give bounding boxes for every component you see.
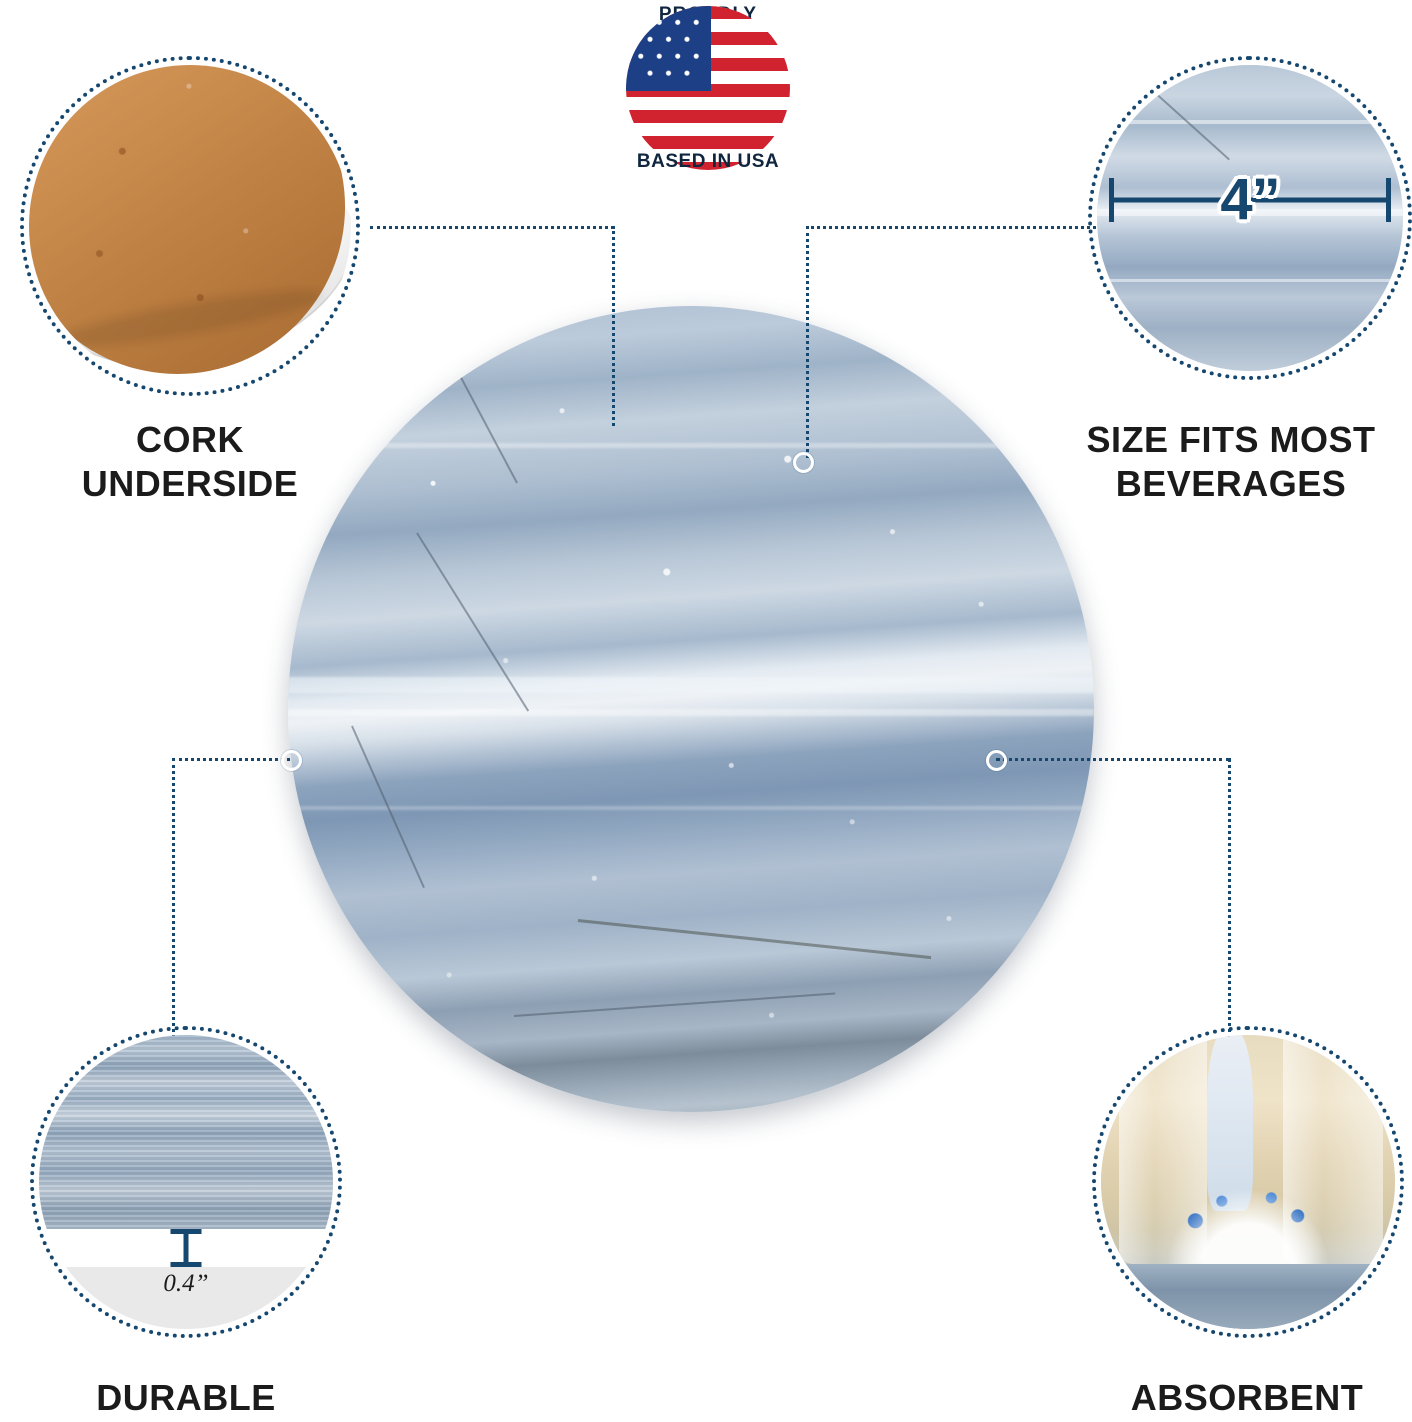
product-image-coaster [288, 306, 1094, 1112]
coaster-surface-art: 4” [1097, 65, 1403, 371]
marble-streak [288, 709, 1094, 716]
marble-crack [578, 919, 931, 959]
connector-line-cork-horizontal [370, 226, 614, 229]
measurement-value-diameter: 4” [1202, 171, 1297, 229]
connector-line-size-vertical [806, 226, 809, 458]
measurement-end-cap-right [1386, 178, 1391, 222]
badge-bottom-text: BASED IN USA [618, 150, 798, 174]
flag-canton-stars [626, 6, 711, 91]
connector-line-absorbent-horizontal [996, 758, 1230, 761]
feature-bubble-durable: 0.4” [30, 1026, 342, 1338]
caption-line-2: BEVERAGES [1050, 462, 1412, 506]
caption-line-1: ABSORBENT [1082, 1376, 1412, 1420]
connector-line-durable-vertical [172, 758, 175, 1038]
coaster-stone-body [39, 1035, 333, 1229]
measurement-value-thickness: 0.4” [163, 1270, 208, 1298]
marble-streak [288, 677, 1094, 693]
usa-flag-icon [626, 6, 790, 170]
marble-crack [514, 993, 836, 1017]
thickness-measurement-indicator [184, 1229, 189, 1267]
liquid-splash-art [1101, 1035, 1395, 1329]
marble-streak [1097, 120, 1403, 124]
connector-line-size-horizontal [806, 226, 1096, 229]
feature-bubble-cork-underside [20, 56, 360, 396]
connector-node-absorbent [986, 750, 1007, 771]
connector-line-absorbent-vertical [1228, 758, 1231, 1040]
connector-node-durable [281, 750, 302, 771]
marble-crack [1151, 90, 1230, 161]
caption-line-1: CORK [20, 418, 360, 462]
liquid-pour-stream [1207, 1035, 1253, 1211]
durable-thickness-photo: 0.4” [39, 1035, 333, 1329]
caption-size-fits-most-beverages: SIZE FITS MOST BEVERAGES [1050, 418, 1412, 506]
feature-bubble-absorbent [1092, 1026, 1404, 1338]
caption-line-2: UNDERSIDE [20, 462, 360, 506]
absorbent-splash-photo [1101, 1035, 1395, 1329]
caption-cork-underside: CORK UNDERSIDE [20, 418, 360, 506]
marble-streak [288, 443, 1094, 448]
caption-durable: DURABLE [20, 1376, 352, 1420]
measurement-end-cap-left [1109, 178, 1114, 222]
marble-crack [448, 355, 518, 484]
blue-marble-stone-coaster [288, 306, 1094, 1112]
coaster-surface-band [1101, 1264, 1395, 1329]
feature-bubble-size-fits-most-beverages: 4” [1088, 56, 1412, 380]
connector-line-durable-horizontal [172, 758, 290, 761]
connector-line-cork-vertical [612, 226, 615, 426]
caption-line-1: DURABLE [20, 1376, 352, 1420]
coaster-edge-art: 0.4” [39, 1035, 333, 1329]
caption-absorbent: ABSORBENT [1082, 1376, 1412, 1420]
cork-disc-art [29, 65, 351, 387]
liquid-splash [1166, 1188, 1331, 1270]
size-measurement-photo: 4” [1097, 65, 1403, 371]
connector-node-size [793, 452, 814, 473]
caption-line-1: SIZE FITS MOST [1050, 418, 1412, 462]
cork-underside-photo [29, 65, 351, 387]
marble-streak [1097, 279, 1403, 282]
marble-streak [288, 806, 1094, 810]
proudly-based-in-usa-badge: PROUDLY BASED IN USA [618, 0, 798, 208]
